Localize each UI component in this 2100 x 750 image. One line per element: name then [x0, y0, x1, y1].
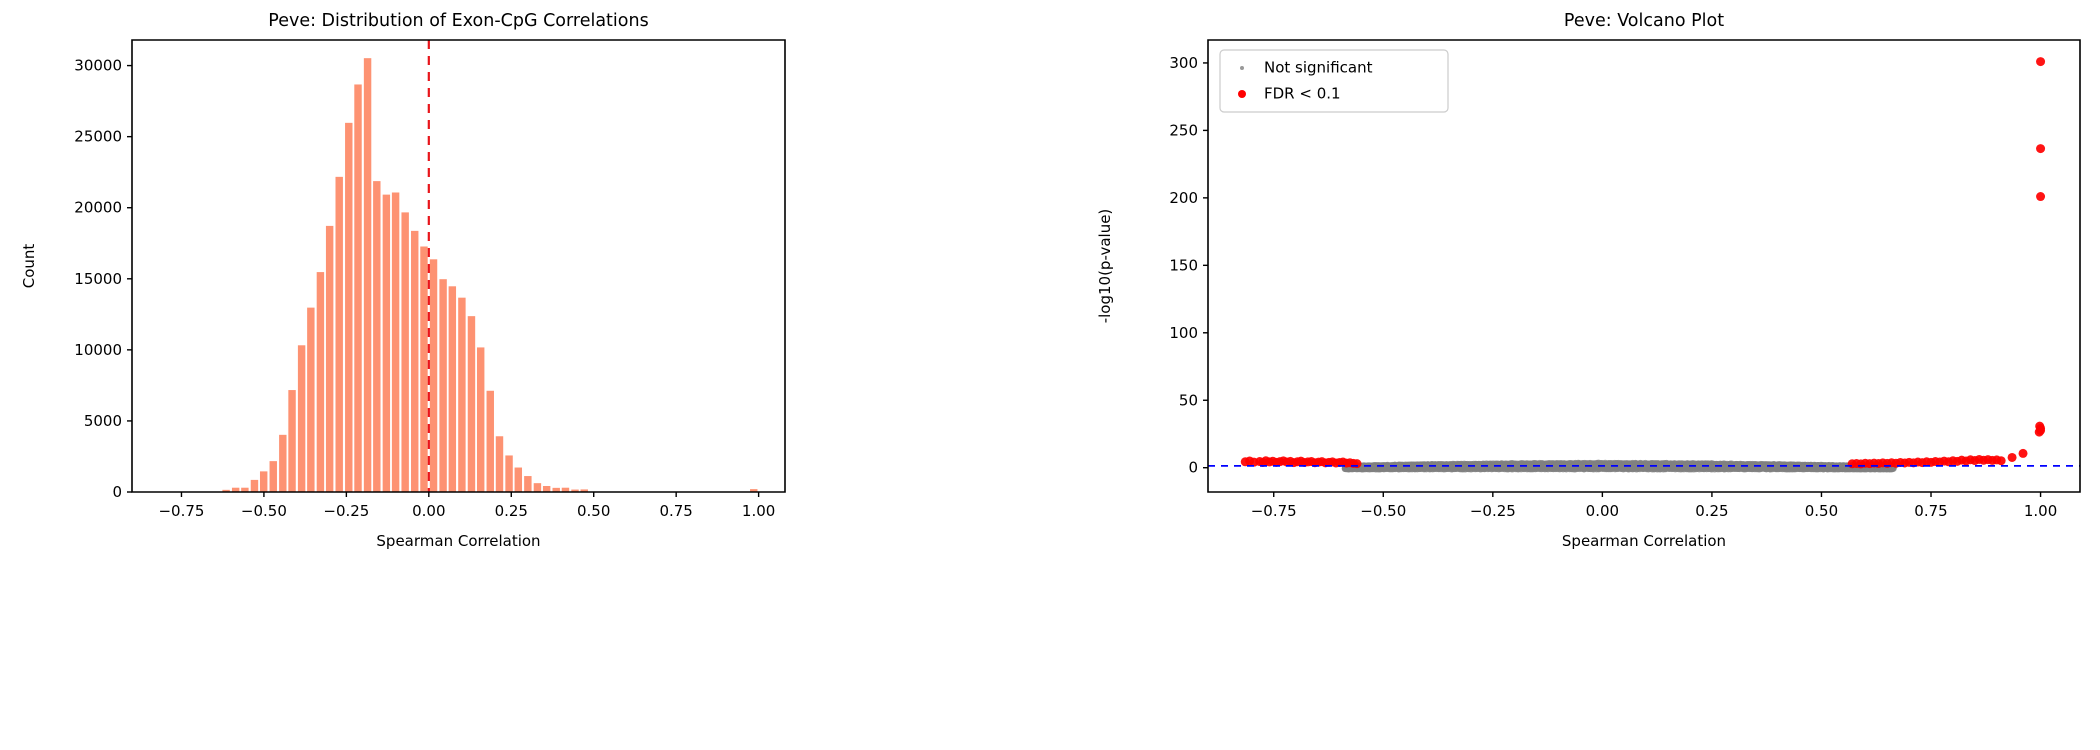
histogram-bar: [477, 347, 485, 492]
x-tick-label: 0.50: [577, 502, 610, 520]
x-tick-label: 0.50: [1805, 502, 1838, 520]
scatter-point: [2036, 144, 2045, 153]
histogram-bar: [411, 230, 419, 492]
x-tick-label: 0.25: [495, 502, 528, 520]
x-tick-label: −0.50: [241, 502, 287, 520]
volcano-legend[interactable]: Not significantFDR < 0.1: [1220, 50, 1448, 112]
scatter-point: [2019, 449, 2028, 458]
scatter-point: [2036, 57, 2045, 66]
histogram-bar: [297, 345, 305, 492]
histogram-bar: [391, 192, 399, 492]
histogram-bar: [316, 272, 324, 492]
y-tick-label: 0: [112, 483, 122, 501]
histogram-bar: [514, 467, 522, 492]
y-tick-label: 15000: [74, 270, 122, 288]
scatter-point: [1352, 459, 1361, 468]
histogram-bar: [543, 486, 551, 492]
histogram-bar: [382, 194, 390, 492]
x-tick-label: 0.75: [1914, 502, 1947, 520]
histogram-bar: [269, 461, 277, 492]
histogram-bar: [458, 297, 466, 492]
y-tick-label: 5000: [84, 412, 122, 430]
y-axis-label: -log10(p-value): [1096, 209, 1114, 324]
histogram-bar: [335, 176, 343, 492]
y-axis-label: Count: [20, 244, 38, 289]
histogram-bar: [429, 259, 437, 492]
x-tick-label: 1.00: [742, 502, 775, 520]
histogram-bar: [373, 181, 381, 492]
y-tick-label: 250: [1169, 121, 1198, 139]
x-tick-label: −0.50: [1360, 502, 1406, 520]
legend-marker-not-significant: [1240, 66, 1244, 70]
y-tick-label: 0: [1188, 459, 1198, 477]
legend-label: Not significant: [1264, 59, 1373, 77]
histogram-bar: [448, 286, 456, 492]
volcano-title: Peve: Volcano Plot: [1564, 11, 1724, 31]
scatter-point: [2035, 428, 2044, 437]
histogram-svg: Peve: Distribution of Exon-CpG Correlati…: [0, 0, 1050, 750]
y-tick-label: 25000: [74, 128, 122, 146]
panel-histogram: Peve: Distribution of Exon-CpG Correlati…: [0, 0, 1050, 750]
y-tick-label: 50: [1179, 391, 1198, 409]
x-tick-label: 0.75: [659, 502, 692, 520]
histogram-bar: [533, 483, 541, 492]
x-tick-label: 0.25: [1695, 502, 1728, 520]
volcano-svg: Peve: Volcano Plot−0.75−0.50−0.250.000.2…: [1050, 0, 2100, 750]
y-tick-label: 300: [1169, 54, 1198, 72]
histogram-bar: [307, 307, 315, 492]
legend-marker-fdr: [1238, 90, 1246, 98]
scatter-point: [2036, 192, 2045, 201]
x-axis-label: Spearman Correlation: [376, 532, 540, 550]
x-tick-label: 0.00: [1586, 502, 1619, 520]
x-tick-label: −0.25: [1470, 502, 1516, 520]
histogram-title: Peve: Distribution of Exon-CpG Correlati…: [268, 11, 648, 31]
histogram-bar: [250, 479, 258, 492]
x-tick-label: −0.75: [158, 502, 204, 520]
histogram-bar: [401, 212, 409, 492]
scatter-point: [2008, 453, 2017, 462]
x-axis-label: Spearman Correlation: [1562, 532, 1726, 550]
histogram-bar: [326, 225, 334, 492]
scatter-not-significant: [1342, 460, 1897, 473]
y-tick-label: 150: [1169, 256, 1198, 274]
histogram-bar: [439, 279, 447, 492]
x-tick-label: 0.00: [412, 502, 445, 520]
y-tick-label: 20000: [74, 199, 122, 217]
histogram-bar: [486, 390, 494, 492]
histogram-bar: [279, 434, 287, 492]
x-tick-label: −0.25: [323, 502, 369, 520]
panel-volcano: Peve: Volcano Plot−0.75−0.50−0.250.000.2…: [1050, 0, 2100, 750]
histogram-bar: [524, 476, 532, 492]
histogram-bar: [363, 58, 371, 492]
x-tick-label: −0.75: [1251, 502, 1297, 520]
histogram-bar: [420, 246, 428, 492]
x-tick-label: 1.00: [2024, 502, 2057, 520]
y-tick-label: 200: [1169, 189, 1198, 207]
scatter-significant: [1241, 57, 2045, 468]
y-tick-label: 10000: [74, 341, 122, 359]
histogram-bar: [260, 471, 268, 492]
scatter-point: [1997, 456, 2006, 465]
histogram-bar: [495, 436, 503, 492]
histogram-bar: [354, 84, 362, 492]
y-tick-label: 100: [1169, 324, 1198, 342]
histogram-bar: [345, 122, 353, 492]
y-tick-label: 30000: [74, 57, 122, 75]
histogram-bar: [505, 455, 513, 492]
matplotlib-figure: Peve: Distribution of Exon-CpG Correlati…: [0, 0, 2100, 750]
legend-label: FDR < 0.1: [1264, 85, 1341, 103]
histogram-bar: [288, 390, 296, 492]
histogram-bar: [467, 316, 475, 492]
histogram-bars: [222, 58, 758, 492]
